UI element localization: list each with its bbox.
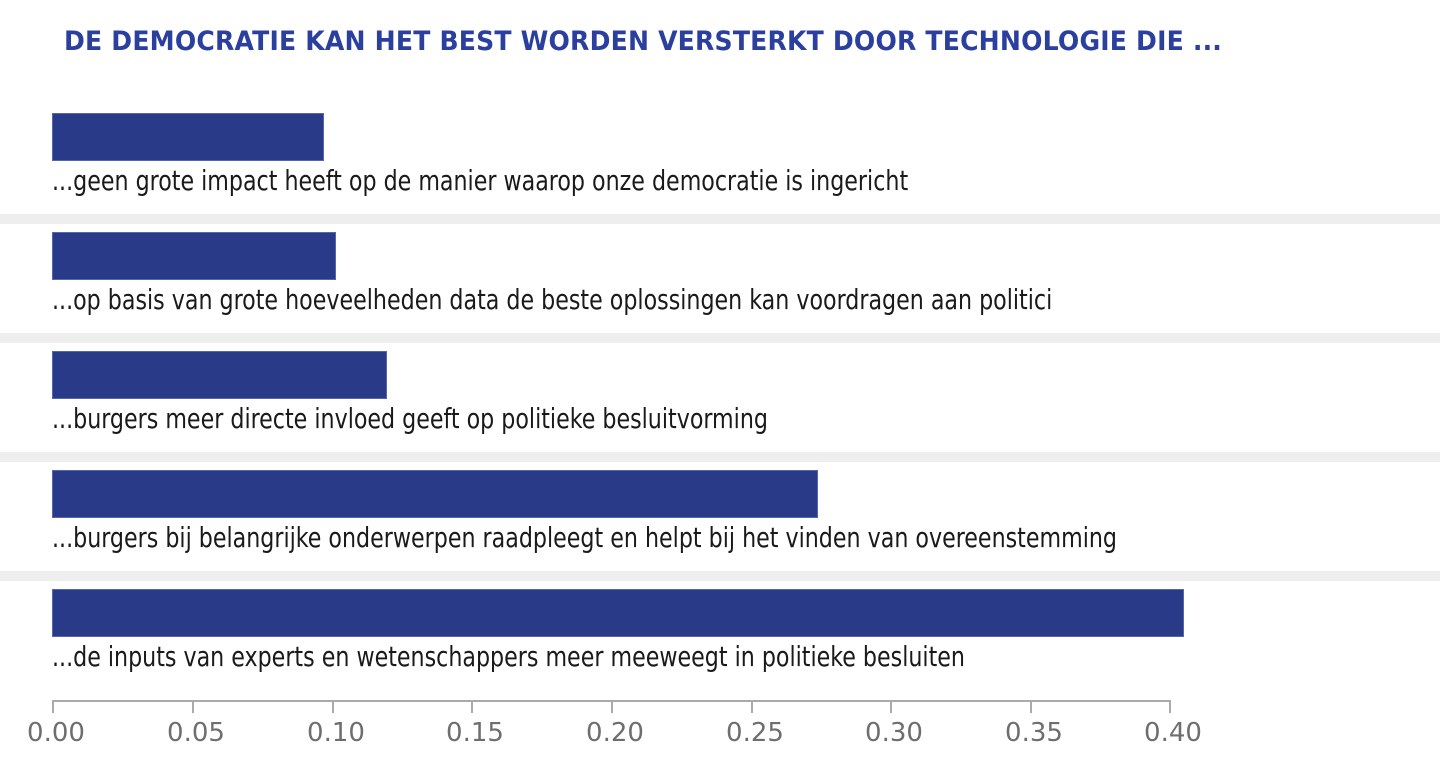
x-axis-tick-label: 0.20 xyxy=(586,718,644,748)
bar-category-label: ...burgers meer directe invloed geeft op… xyxy=(52,405,768,433)
x-axis-tick-label: 0.35 xyxy=(1005,718,1063,748)
x-axis-tick-label: 0.40 xyxy=(1144,718,1202,748)
x-axis-tick xyxy=(52,700,54,713)
row-separator-band xyxy=(0,452,1440,462)
bar-row: ...burgers meer directe invloed geeft op… xyxy=(0,333,1440,452)
x-axis-tick-label: 0.30 xyxy=(865,718,923,748)
x-axis-tick-label: 0.25 xyxy=(726,718,784,748)
x-axis-tick xyxy=(890,700,892,713)
x-axis-tick-label: 0.10 xyxy=(307,718,365,748)
x-axis-tick xyxy=(471,700,473,713)
x-axis-tick xyxy=(751,700,753,713)
bar xyxy=(52,113,324,161)
bar-row: ...de inputs van experts en wetenschappe… xyxy=(0,571,1440,690)
x-axis-tick xyxy=(1169,700,1171,713)
bar-chart-plot-area: ...geen grote impact heeft op de manier … xyxy=(0,95,1440,695)
x-axis-tick xyxy=(332,700,334,713)
bar-category-label: ...de inputs van experts en wetenschappe… xyxy=(52,643,965,671)
row-separator-band xyxy=(0,571,1440,581)
x-axis-tick-label: 0.15 xyxy=(446,718,504,748)
x-axis-tick xyxy=(192,700,194,713)
chart-page: DE DEMOCRATIE KAN HET BEST WORDEN VERSTE… xyxy=(0,0,1440,779)
x-axis-tick-label: 0.05 xyxy=(167,718,225,748)
bar-row: ...geen grote impact heeft op de manier … xyxy=(0,95,1440,214)
bar-category-label: ...burgers bij belangrijke onderwerpen r… xyxy=(52,524,1117,552)
x-axis-tick xyxy=(1030,700,1032,713)
row-separator-band xyxy=(0,214,1440,224)
bar-row: ...burgers bij belangrijke onderwerpen r… xyxy=(0,452,1440,571)
bar xyxy=(52,351,387,399)
x-axis-tick xyxy=(611,700,613,713)
page-title: DE DEMOCRATIE KAN HET BEST WORDEN VERSTE… xyxy=(64,27,1338,57)
row-separator-band xyxy=(0,333,1440,343)
x-axis: 0.00 0.05 0.10 0.15 0.20 0.25 0.30 0.35 … xyxy=(0,700,1440,779)
bar-category-label: ...op basis van grote hoeveelheden data … xyxy=(52,286,1052,314)
bar xyxy=(52,232,336,280)
x-axis-tick-label: 0.00 xyxy=(27,718,85,748)
bar xyxy=(52,470,818,518)
bar-category-label: ...geen grote impact heeft op de manier … xyxy=(52,167,908,195)
bar xyxy=(52,589,1184,637)
bar-row: ...op basis van grote hoeveelheden data … xyxy=(0,214,1440,333)
